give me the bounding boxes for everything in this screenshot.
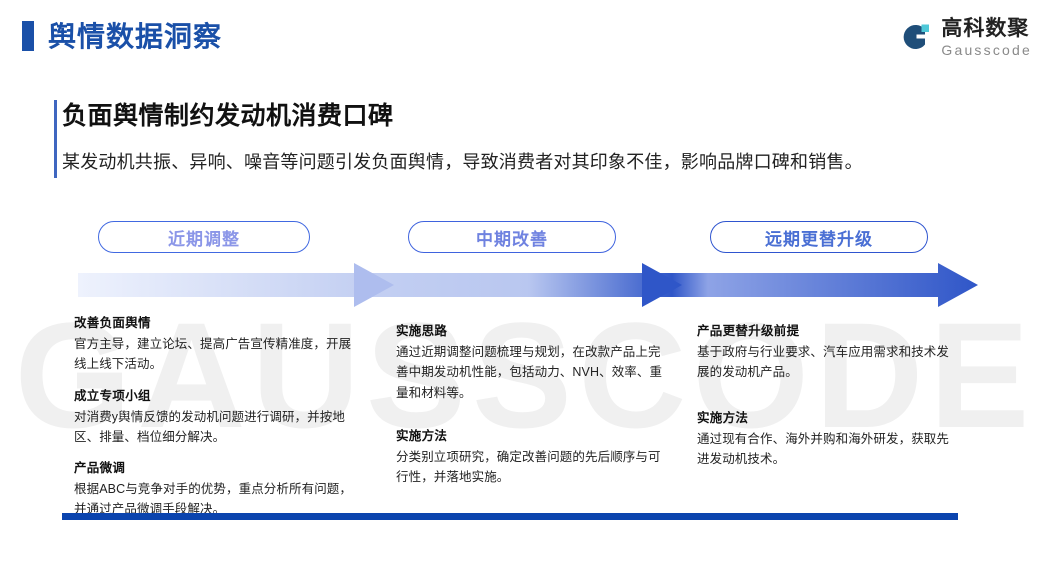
column-long-term: 产品更替升级前提 基于政府与行业要求、汽车应用需求和技术发展的发动机产品。 实施… <box>697 312 959 469</box>
brand-name-cn: 高科数聚 <box>941 18 1032 39</box>
block-body: 通过现有合作、海外并购和海外研发，获取先进发动机技术。 <box>697 429 959 470</box>
block-body: 基于政府与行业要求、汽车应用需求和技术发展的发动机产品。 <box>697 342 959 383</box>
block-title: 实施方法 <box>396 425 666 444</box>
brand-logo: 高科数聚 Gausscode <box>898 14 1032 60</box>
column-mid-term: 实施思路 通过近期调整问题梳理与规划，在改款产品上完善中期发动机性能，包括动力、… <box>396 312 666 487</box>
block-body: 分类别立项研究，确定改善问题的先后顺序与可行性，并落地实施。 <box>396 447 666 488</box>
footer-rule <box>62 513 958 520</box>
phase-pill-row: 近期调整 中期改善 远期更替升级 <box>0 221 1050 255</box>
page-title: 舆情数据洞察 <box>48 15 222 55</box>
timeline-arrow-graphic <box>78 263 978 307</box>
page-header: 舆情数据洞察 高科数聚 Gausscode <box>0 0 1050 72</box>
content-block: 实施思路 通过近期调整问题梳理与规划，在改款产品上完善中期发动机性能，包括动力、… <box>396 320 666 403</box>
phase-pill-label: 远期更替升级 <box>765 225 873 250</box>
block-title: 实施方法 <box>697 407 959 426</box>
content-block: 产品微调 根据ABC与竞争对手的优势，重点分析所有问题，并通过产品微调手段解决。 <box>74 457 359 520</box>
header-marker-icon <box>22 21 34 51</box>
phase-pill-long-term[interactable]: 远期更替升级 <box>710 221 928 253</box>
phase-pill-mid-term[interactable]: 中期改善 <box>408 221 616 253</box>
brand-name-en: Gausscode <box>941 43 1032 57</box>
block-body: 对消费y舆情反馈的发动机问题进行调研，并按地区、排量、档位细分解决。 <box>74 407 359 448</box>
content-block: 成立专项小组 对消费y舆情反馈的发动机问题进行调研，并按地区、排量、档位细分解决… <box>74 385 359 448</box>
block-title: 产品微调 <box>74 457 359 476</box>
content-block: 实施方法 通过现有合作、海外并购和海外研发，获取先进发动机技术。 <box>697 407 959 470</box>
block-body: 通过近期调整问题梳理与规划，在改款产品上完善中期发动机性能，包括动力、NVH、效… <box>396 342 666 403</box>
content-block: 实施方法 分类别立项研究，确定改善问题的先后顺序与可行性，并落地实施。 <box>396 425 666 488</box>
content-block: 产品更替升级前提 基于政府与行业要求、汽车应用需求和技术发展的发动机产品。 <box>697 320 959 383</box>
block-title: 成立专项小组 <box>74 385 359 404</box>
block-title: 产品更替升级前提 <box>697 320 959 339</box>
column-near-term: 改善负面舆情 官方主导，建立论坛、提高广告宣传精准度，开展线上线下活动。 成立专… <box>74 312 359 520</box>
block-title: 改善负面舆情 <box>74 312 359 331</box>
block-body: 官方主导，建立论坛、提高广告宣传精准度，开展线上线下活动。 <box>74 334 359 375</box>
gausscode-logo-icon <box>898 20 932 54</box>
block-title: 实施思路 <box>396 320 666 339</box>
brand-logo-text: 高科数聚 Gausscode <box>941 18 1032 57</box>
content-block: 改善负面舆情 官方主导，建立论坛、提高广告宣传精准度，开展线上线下活动。 <box>74 312 359 375</box>
lead-block: 负面舆情制约发动机消费口碑 某发动机共振、异响、噪音等问题引发负面舆情，导致消费… <box>62 96 962 174</box>
lead-subtitle: 某发动机共振、异响、噪音等问题引发负面舆情，导致消费者对其印象不佳，影响品牌口碑… <box>62 148 962 174</box>
lead-title: 负面舆情制约发动机消费口碑 <box>62 96 962 132</box>
phase-pill-label: 近期调整 <box>168 225 240 250</box>
lead-accent-bar <box>54 100 57 178</box>
phase-pill-near-term[interactable]: 近期调整 <box>98 221 310 253</box>
phase-pill-label: 中期改善 <box>476 225 548 250</box>
